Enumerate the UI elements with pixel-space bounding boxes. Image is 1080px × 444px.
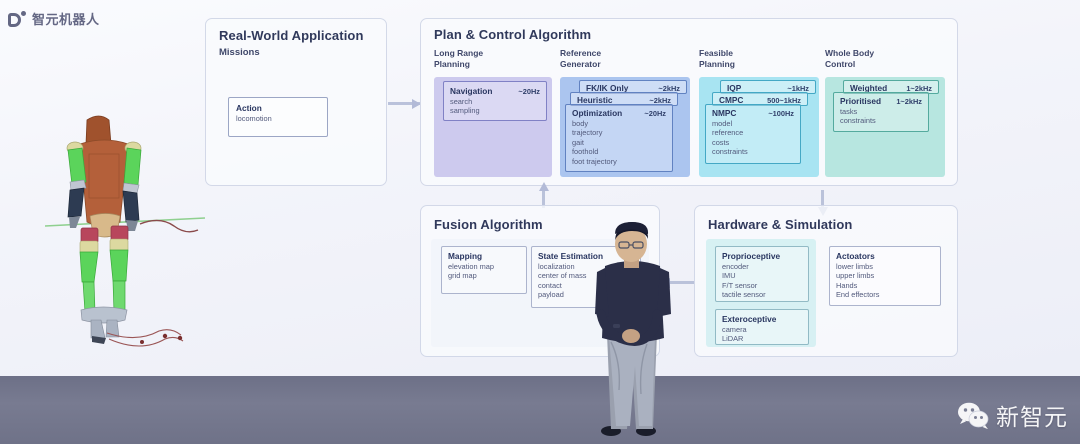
card-mapping: Mapping elevation map grid map: [441, 246, 527, 294]
card-title-weighted: Weighted: [850, 83, 887, 93]
card-body-proprioceptive: encoder IMU F/T sensor tactile sensor: [722, 262, 802, 300]
card-prioritised: Prioritised1~2kHz tasks constraints: [833, 92, 929, 132]
panel-title-plan-control: Plan & Control Algorithm: [434, 27, 591, 42]
card-title-heuristic: Heuristic: [577, 95, 613, 105]
stage-floor: [0, 376, 1080, 444]
card-proprioceptive: Proprioceptive encoder IMU F/T sensor ta…: [715, 246, 809, 302]
card-title-nmpc: NMPC: [712, 108, 736, 118]
presenter-person: [585, 222, 680, 438]
card-hz-optimization: ~20Hz: [644, 109, 666, 118]
card-hz-navigation: ~20Hz: [518, 87, 540, 96]
card-title-proprioceptive: Proprioceptive: [722, 251, 780, 261]
label-missions: Missions: [219, 47, 260, 58]
card-title-iqp: IQP: [727, 83, 741, 93]
watermark-text: 新智元: [996, 398, 1068, 432]
channel-watermark: 新智元: [957, 398, 1068, 432]
panel-title-hardware: Hardware & Simulation: [708, 217, 852, 232]
card-body-prioritised: tasks constraints: [840, 107, 922, 126]
column-label-whole-body-control: Whole Body Control: [825, 48, 874, 70]
panel-plan-control: Plan & Control Algorithm Long Range Plan…: [420, 18, 958, 186]
card-title-actuators: Actoators: [836, 251, 875, 261]
column-label-reference-generator: Reference Generator: [560, 48, 601, 70]
card-action: Action locomotion: [228, 97, 328, 137]
card-exteroceptive: Exteroceptive camera LiDAR: [715, 309, 809, 345]
card-title-exteroceptive: Exteroceptive: [722, 314, 776, 324]
card-title-prioritised: Prioritised: [840, 96, 881, 106]
card-actuators: Actoators lower limbs upper limbs Hands …: [829, 246, 941, 306]
card-hz-nmpc: ~100Hz: [768, 109, 794, 118]
card-hz-prioritised: 1~2kHz: [896, 97, 922, 106]
card-body-actuators: lower limbs upper limbs Hands End effect…: [836, 262, 934, 300]
card-optimization: Optimization~20Hz body trajectory gait f…: [565, 104, 673, 172]
card-body-mapping: elevation map grid map: [448, 262, 520, 281]
panel-real-world-application: Real-World Application Missions Action l…: [205, 18, 387, 186]
card-body-optimization: body trajectory gait foothold foot traje…: [572, 119, 666, 166]
card-body-action: locomotion: [236, 114, 320, 123]
column-label-feasible-planning: Feasible Planning: [699, 48, 735, 70]
card-body-nmpc: model reference costs constraints: [712, 119, 794, 157]
column-label-long-range-planning: Long Range Planning: [434, 48, 483, 70]
card-title-mapping: Mapping: [448, 251, 482, 261]
card-navigation: Navigation~20Hz search sampling: [443, 81, 547, 121]
panel-title-real-world: Real-World Application: [219, 28, 363, 43]
card-nmpc: NMPC~100Hz model reference costs constra…: [705, 104, 801, 164]
panel-hardware-simulation: Hardware & Simulation Proprioceptive enc…: [694, 205, 958, 357]
card-title-fkik-only: FK/IK Only: [586, 83, 628, 93]
card-title-navigation: Navigation: [450, 86, 492, 96]
card-title-optimization: Optimization: [572, 108, 622, 118]
card-title-action: Action: [236, 103, 262, 113]
projected-slide: Real-World Application Missions Action l…: [0, 0, 1000, 372]
wechat-icon: [957, 402, 989, 429]
card-title-cmpc: CMPC: [719, 95, 743, 105]
card-body-navigation: search sampling: [450, 97, 540, 116]
card-body-exteroceptive: camera LiDAR: [722, 325, 802, 344]
panel-title-fusion: Fusion Algorithm: [434, 217, 543, 232]
arrow-realworld-to-plan: [388, 102, 420, 105]
